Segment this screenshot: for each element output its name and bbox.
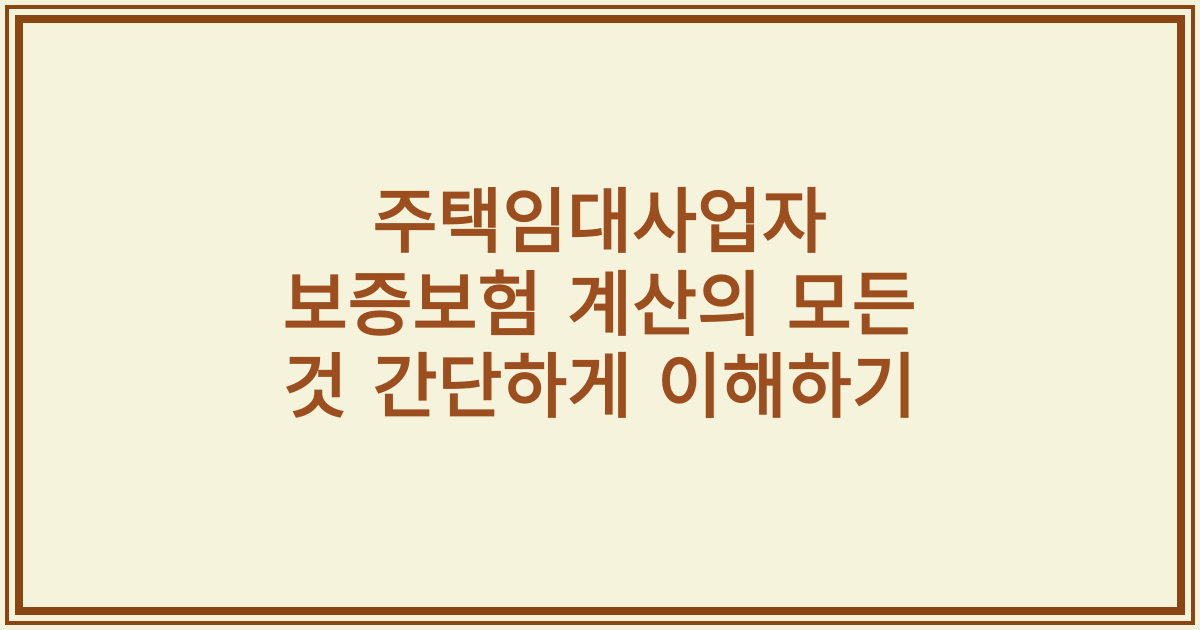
thumbnail-card: 주택임대사업자 보증보험 계산의 모든 것 간단하게 이해하기	[0, 0, 1200, 630]
title-line-2: 보증보험 계산의 모든	[63, 264, 1137, 347]
title-line-3: 것 간단하게 이해하기	[63, 346, 1137, 429]
outer-border-frame: 주택임대사업자 보증보험 계산의 모든 것 간단하게 이해하기	[5, 5, 1195, 625]
inner-border-frame: 주택임대사업자 보증보험 계산의 모든 것 간단하게 이해하기	[15, 15, 1185, 615]
title-line-1: 주택임대사업자	[63, 181, 1137, 264]
page-title: 주택임대사업자 보증보험 계산의 모든 것 간단하게 이해하기	[23, 181, 1177, 429]
